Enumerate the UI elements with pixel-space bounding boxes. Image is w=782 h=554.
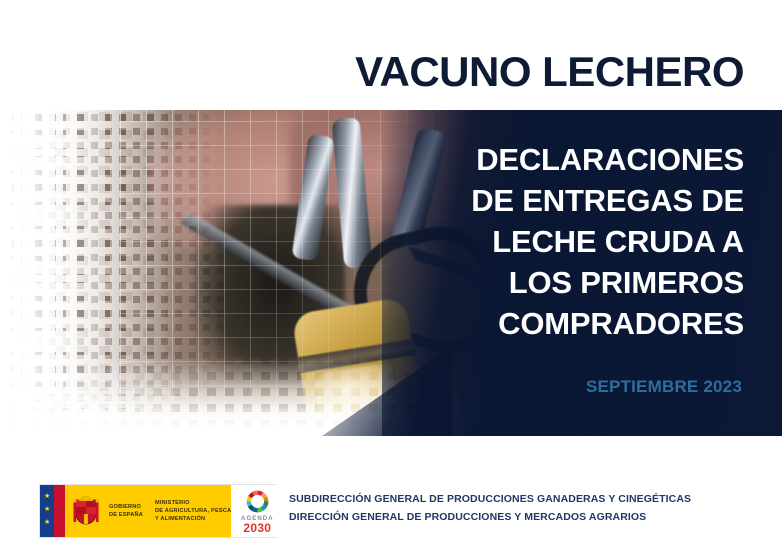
- agenda-year: 2030: [243, 522, 271, 534]
- subtitle-line-3: LECHE CRUDA A: [444, 222, 744, 263]
- ministry-label-line-2: DE AGRICULTURA, PESCA: [155, 507, 231, 515]
- agenda-2030-logo: AGENDA 2030: [231, 485, 283, 537]
- subtitle-line-5: COMPRADORES: [444, 304, 744, 345]
- footer-department-text: SUBDIRECCIÓN GENERAL DE PRODUCCIONES GAN…: [289, 490, 691, 526]
- eu-flag-strip: ★ ★ ★: [40, 485, 54, 537]
- subtitle-line-1: DECLARACIONES: [444, 140, 744, 181]
- eu-star-icon: ★: [44, 507, 50, 513]
- sdg-wheel-icon: [244, 488, 271, 515]
- footer-line-1: SUBDIRECCIÓN GENERAL DE PRODUCCIONES GAN…: [289, 490, 691, 508]
- page-title: VACUNO LECHERO: [355, 51, 744, 93]
- ministry-label-line-1: MINISTERIO: [155, 499, 231, 507]
- issue-date: SEPTIEMBRE 2023: [586, 377, 742, 397]
- eu-star-icon: ★: [44, 520, 50, 526]
- subtitle-line-4: LOS PRIMEROS: [444, 263, 744, 304]
- ministry-label-line-3: Y ALIMENTACIÓN: [155, 515, 231, 523]
- government-label-line-1: GOBIERNO: [109, 503, 143, 511]
- subtitle-line-2: DE ENTREGAS DE: [444, 181, 744, 222]
- eu-star-icon: ★: [44, 494, 50, 500]
- government-label: GOBIERNO DE ESPAÑA: [109, 503, 143, 519]
- navy-title-panel: DECLARACIONES DE ENTREGAS DE LECHE CRUDA…: [382, 110, 782, 436]
- document-cover-page: VACUNO LECHERO DECLARACIONES: [0, 0, 782, 554]
- government-label-line-2: DE ESPAÑA: [109, 511, 143, 519]
- spanish-flag-yellow-field: GOBIERNO DE ESPAÑA MINISTERIO DE AGRICUL…: [65, 485, 231, 537]
- document-subtitle: DECLARACIONES DE ENTREGAS DE LECHE CRUDA…: [444, 140, 744, 345]
- cover-banner: DECLARACIONES DE ENTREGAS DE LECHE CRUDA…: [0, 110, 782, 436]
- spanish-flag-red-band: [54, 485, 65, 537]
- page-footer: ★ ★ ★: [0, 478, 782, 554]
- footer-line-2: DIRECCIÓN GENERAL DE PRODUCCIONES Y MERC…: [289, 508, 691, 526]
- ministry-label: MINISTERIO DE AGRICULTURA, PESCA Y ALIME…: [155, 499, 231, 523]
- government-logo: ★ ★ ★: [40, 485, 276, 537]
- spanish-coat-of-arms-icon: [71, 492, 101, 530]
